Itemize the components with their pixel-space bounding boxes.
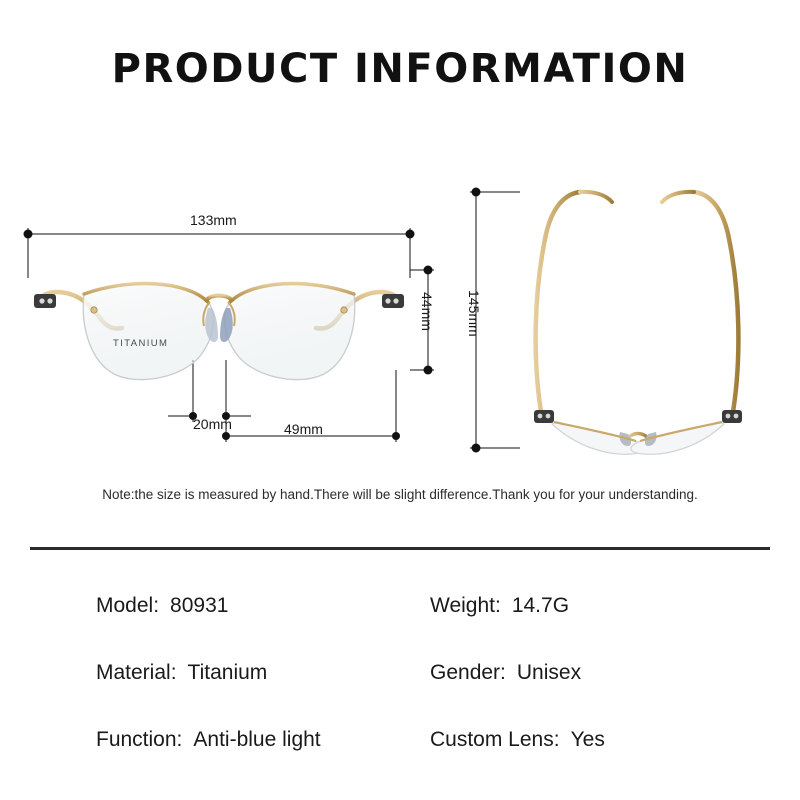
spec-label: Model: [96,594,159,618]
spec-material: Material: Titanium [0,642,345,704]
spec-label: Gender: [430,661,506,685]
brand-text-titanium: TITANIUM [113,338,168,349]
spec-table: Model: 80931 Weight: 14.7G Material: Tit… [0,575,800,780]
section-divider [30,547,770,550]
spec-model: Model: 80931 [0,575,345,637]
spec-value: Titanium [188,661,268,685]
spec-gender: Gender: Unisex [345,642,800,704]
spec-value: Yes [571,728,605,752]
dimension-guides [28,228,410,278]
spec-function: Function: Anti-blue light [0,709,345,771]
measurement-total-width: 133mm [190,212,237,228]
top-view-drawing [460,170,790,470]
front-view-panel: TITANIUM 133mm 44mm 20mm 49mm [18,170,438,470]
spec-value: Anti-blue light [193,728,320,752]
spec-value: 14.7G [512,594,569,618]
spec-value: Unisex [517,661,581,685]
top-view-panel: 145mm [460,170,790,470]
size-note: Note:the size is measured by hand.There … [0,487,800,502]
spec-label: Custom Lens: [430,728,560,752]
table-row: Model: 80931 Weight: 14.7G [0,575,800,637]
measurement-lens-height: 44mm [419,292,435,331]
measurement-bridge-width: 20mm [193,416,232,432]
table-row: Function: Anti-blue light Custom Lens: Y… [0,709,800,771]
spec-label: Function: [96,728,182,752]
measurement-temple-length: 145mm [466,290,482,337]
measurement-lens-width: 49mm [284,421,323,437]
spec-label: Weight: [430,594,501,618]
spec-custom-lens: Custom Lens: Yes [345,709,800,771]
product-diagram: TITANIUM 133mm 44mm 20mm 49mm [0,170,800,470]
spec-value: 80931 [170,594,228,618]
spec-weight: Weight: 14.7G [345,575,800,637]
table-row: Material: Titanium Gender: Unisex [0,642,800,704]
spec-label: Material: [96,661,177,685]
page-title: PRODUCT INFORMATION [0,46,800,92]
